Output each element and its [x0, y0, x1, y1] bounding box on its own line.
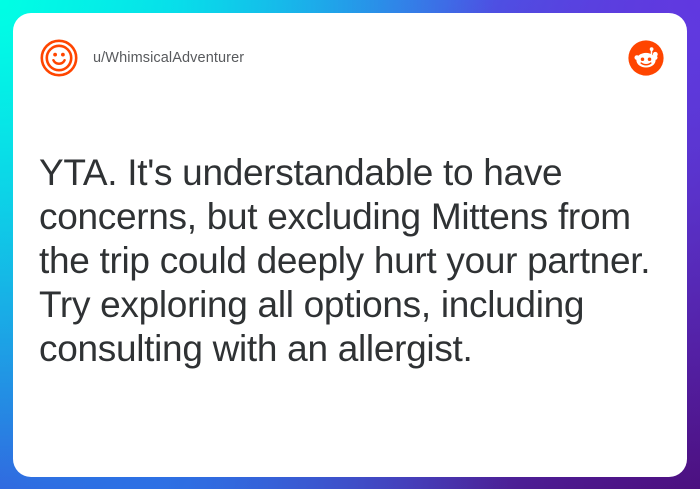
post-header: u/WhimsicalAdventurer — [13, 13, 687, 103]
smiley-face-icon — [39, 38, 79, 78]
reddit-post-card: u/WhimsicalAdventurer — [13, 13, 687, 477]
screenshot-canvas: u/WhimsicalAdventurer — [0, 0, 700, 489]
reddit-snoo-icon — [627, 39, 665, 77]
post-text: YTA. It's understandable to have concern… — [39, 151, 667, 371]
username-label: u/WhimsicalAdventurer — [93, 50, 244, 66]
post-body: YTA. It's understandable to have concern… — [39, 151, 667, 371]
